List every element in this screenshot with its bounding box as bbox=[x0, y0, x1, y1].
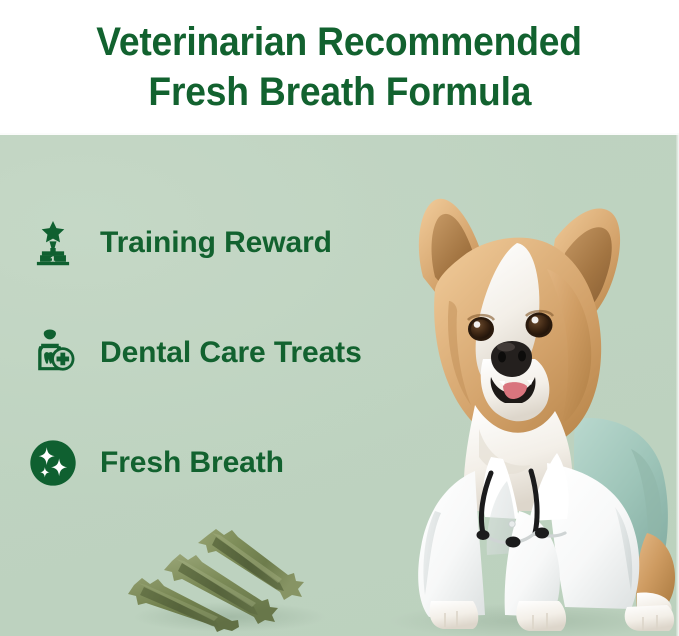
feature-label-dental-care-treats: Dental Care Treats bbox=[100, 337, 362, 369]
product-feature-banner: Veterinarian Recommended Fresh Breath Fo… bbox=[0, 0, 679, 636]
feature-list: Training Reward bbox=[26, 215, 406, 545]
feature-label-fresh-breath: Fresh Breath bbox=[100, 447, 284, 479]
tooth-medical-cross-icon bbox=[26, 326, 80, 380]
hero-panel: Training Reward bbox=[0, 133, 679, 636]
dental-chew-sticks-image bbox=[112, 521, 342, 636]
feature-item-dental-care-treats: Dental Care Treats bbox=[26, 325, 406, 381]
feature-item-fresh-breath: Fresh Breath bbox=[26, 435, 406, 491]
corgi-veterinarian-image bbox=[379, 181, 679, 636]
podium-star-icon bbox=[26, 216, 80, 270]
headline-line-1: Veterinarian Recommended bbox=[97, 17, 583, 67]
headline-line-2: Fresh Breath Formula bbox=[148, 67, 531, 117]
feature-item-training-reward: Training Reward bbox=[26, 215, 406, 271]
hero-top-edge bbox=[0, 133, 679, 135]
feature-label-training-reward: Training Reward bbox=[100, 227, 332, 259]
sparkle-circle-icon bbox=[26, 436, 80, 490]
headline-block: Veterinarian Recommended Fresh Breath Fo… bbox=[0, 0, 679, 133]
